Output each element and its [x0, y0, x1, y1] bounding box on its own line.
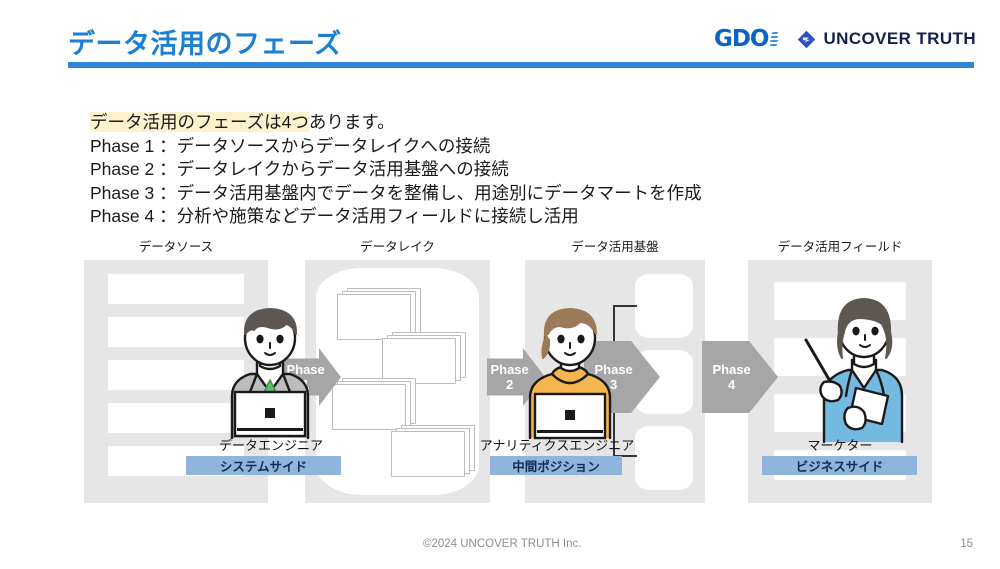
arrow-phase-4-word: Phase	[712, 362, 750, 377]
data-mart-cylinder	[635, 274, 693, 338]
body-line-phase3: Phase 3 ：データ活用基盤内でデータを整備し、用途別にデータマートを作成	[90, 182, 702, 206]
column-header-data-platform: データ活用基盤	[525, 236, 705, 255]
analytics-engineer-illustration	[510, 300, 630, 440]
body-line-phase1: Phase 1 ：データソースからデータレイクへの接続	[90, 135, 702, 159]
arrow-phase-4-number: 4	[728, 377, 735, 392]
data-sheet	[332, 384, 406, 430]
uncover-truth-logo: UNCOVER TRUTH	[797, 29, 976, 49]
role-badge-middle-position: 中間ポジション	[490, 456, 622, 475]
role-label-analytics-engineer: アナリティクスエンジニア	[462, 435, 652, 454]
role-badge-business-side: ビジネスサイド	[762, 456, 917, 475]
gdo-swoosh-icon	[770, 31, 779, 49]
body-line-intro: データ活用のフェーズは4つあります。	[90, 111, 702, 135]
role-label-marketer: マーケター	[770, 435, 910, 454]
title-underline-rule	[68, 62, 974, 68]
column-header-data-lake: データレイク	[305, 236, 490, 255]
data-sheet	[391, 431, 465, 477]
footer-copyright: ©2024 UNCOVER TRUTH Inc.	[423, 538, 581, 550]
footer-page-number: 15	[960, 538, 973, 550]
uncover-truth-diamond-icon	[797, 30, 816, 49]
body-line-phase2: Phase 2 ：データレイクからデータ活用基盤への接続	[90, 158, 702, 182]
body-text-block: データ活用のフェーズは4つあります。 Phase 1 ：データソースからデータレ…	[90, 111, 702, 229]
gdo-logo: GDO	[714, 28, 780, 51]
phases-diagram: データソース データレイク データ活用基盤 データ活用フィールド	[0, 236, 1000, 526]
page-title: データ活用のフェーズ	[68, 22, 342, 61]
uncover-truth-logo-text: UNCOVER TRUTH	[823, 29, 976, 49]
data-engineer-illustration	[210, 300, 330, 440]
column-header-data-source: データソース	[84, 236, 268, 255]
role-label-data-engineer: データエンジニア	[176, 435, 366, 454]
body-intro-tail: あります。	[309, 112, 395, 132]
marketer-illustration	[790, 284, 920, 444]
role-badge-system-side: システムサイド	[186, 456, 341, 475]
body-line-phase4: Phase 4 ：分析や施策などデータ活用フィールドに接続し活用	[90, 205, 702, 229]
gdo-logo-text: GDO	[714, 28, 769, 51]
body-intro-highlight: データ活用のフェーズは4つ	[90, 112, 309, 132]
column-header-data-field: データ活用フィールド	[748, 236, 932, 255]
logo-bar: GDO UNCOVER TRUTH	[714, 24, 976, 54]
